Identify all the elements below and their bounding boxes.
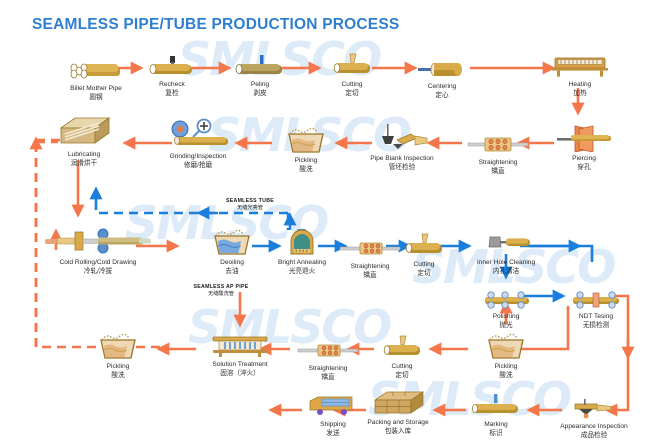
hole-cleaning-icon — [462, 222, 550, 256]
node-pickling-2[interactable]: Pickling 酸洗 — [470, 326, 542, 380]
node-label-en: Peling — [220, 80, 300, 89]
billet-bundle-icon — [56, 48, 136, 82]
node-label-en: Cutting — [312, 80, 392, 89]
pipe-gauge-icon — [132, 44, 212, 78]
cold-rolling-mill-icon — [36, 222, 160, 256]
node-label-cn: 复检 — [132, 89, 212, 98]
pickling-tank-icon — [268, 120, 344, 154]
node-polishing[interactable]: Polishing 抛光 — [470, 276, 542, 330]
node-label-cn: 标识 — [464, 429, 528, 438]
node-label-cn: 修磨/抢磨 — [152, 161, 244, 170]
branch-label-en: SEAMLESS TUBE — [198, 198, 302, 205]
grinding-wheel-icon — [152, 116, 244, 150]
node-pickling-1[interactable]: Pickling 酸洗 — [268, 120, 344, 174]
node-heating[interactable]: Heating 加热 — [540, 44, 620, 98]
piercing-mill-icon — [544, 118, 624, 152]
polishing-rolls-icon — [470, 276, 542, 310]
node-label-en: Straightening — [288, 364, 368, 373]
node-label-en: Cutting — [396, 260, 452, 269]
node-label-cn: 润滑烘干 — [44, 159, 124, 168]
node-label-en: Pickling — [82, 362, 154, 371]
node-label-en: Billet Mother Pipe — [56, 84, 136, 93]
node-label-en: Lubricating — [44, 150, 124, 159]
node-pickling-3[interactable]: Pickling 酸洗 — [82, 326, 154, 380]
node-cutting-2[interactable]: Cutting 定切 — [396, 224, 452, 278]
node-label-cn: 冷轧/冷拔 — [36, 267, 160, 276]
process-flow-diagram: SMLSCO SMLSCO SMLSCO SMLSCO SMLSCO SMLSC… — [0, 0, 650, 441]
node-label-en: Polishing — [470, 312, 542, 321]
packing-boxes-icon — [352, 382, 444, 416]
node-grinding-inspection[interactable]: Grinding/Inspection 修磨/抢磨 — [152, 116, 244, 170]
node-label-cn: 矯直 — [458, 167, 538, 176]
marking-pipe-icon — [464, 384, 528, 418]
peeling-tool-icon — [220, 44, 300, 78]
node-label-en: Marking — [464, 420, 528, 429]
node-inner-hole-cleaning[interactable]: Inner Hole Cleaning 内孔清洁 — [462, 222, 550, 276]
node-label-cn: 无损检测 — [560, 321, 632, 330]
node-label-cn: 矯直 — [288, 373, 368, 382]
straightener-icon — [458, 122, 538, 156]
pickling-tank-icon — [82, 326, 154, 360]
node-label-en: Solution Treatment — [192, 360, 288, 369]
branch-label-en: SEAMLESS AP PIPE — [160, 284, 282, 291]
annealing-furnace-icon — [264, 222, 340, 256]
node-label-cn: 定切 — [396, 269, 452, 278]
node-label-en: Piercing — [544, 154, 624, 163]
truck-icon — [302, 384, 364, 418]
node-straightening-3[interactable]: Straightening 矯直 — [288, 328, 368, 382]
node-label-en: Straightening — [458, 158, 538, 167]
node-label-en: Bright Annealing — [264, 258, 340, 267]
node-label-cn: 酸洗 — [82, 371, 154, 380]
node-label-cn: 穿孔 — [544, 163, 624, 172]
node-label-cn: 定心 — [402, 91, 482, 100]
branch-label-cn: 无缝酸洗管 — [160, 291, 282, 298]
node-label-cn: 加热 — [540, 89, 620, 98]
cutting-saw-icon — [374, 326, 430, 360]
node-label-cn: 管坯检验 — [358, 163, 446, 172]
node-cold-rolling[interactable]: Cold Rolling/Cold Drawing 冷轧/冷拔 — [36, 222, 160, 276]
node-peeling[interactable]: Peling 剥皮 — [220, 44, 300, 98]
node-label-en: Packing and Storage — [352, 418, 444, 427]
node-label-en: Pickling — [268, 156, 344, 165]
node-label-en: Centering — [402, 82, 482, 91]
node-pipe-blank-inspection[interactable]: Pipe Blank Inspection 管坯检验 — [358, 118, 446, 172]
node-label-cn: 包装入库 — [352, 427, 444, 436]
cutting-saw-icon — [312, 44, 392, 78]
node-label-cn: 酸洗 — [268, 165, 344, 174]
node-deoiling[interactable]: Deoiling 去油 — [198, 222, 266, 276]
node-label-en: Grinding/Inspection — [152, 152, 244, 161]
centering-drill-icon — [402, 46, 482, 80]
node-ndt-testing[interactable]: NDT Tesing 无损检测 — [560, 276, 632, 330]
node-label-cn: 剥皮 — [220, 89, 300, 98]
node-billet-mother-pipe[interactable]: Billet Mother Pipe 圆钢 — [56, 48, 136, 102]
node-label-cn: 圆钢 — [56, 93, 136, 102]
node-label-cn: 酸洗 — [470, 371, 542, 380]
node-label-cn: 光亮退火 — [264, 267, 340, 276]
node-solution-treatment[interactable]: Solution Treatment 固溶（淬火） — [192, 324, 288, 378]
node-label-en: Shipping — [302, 420, 364, 429]
node-label-en: Recheck — [132, 80, 212, 89]
node-packing-storage[interactable]: Packing and Storage 包装入库 — [352, 382, 444, 436]
node-label-cn: 定切 — [312, 89, 392, 98]
ndt-rolls-icon — [560, 276, 632, 310]
inspection-probe-icon — [358, 118, 446, 152]
node-centering[interactable]: Centering 定心 — [402, 46, 482, 100]
cutting-saw-icon — [396, 224, 452, 258]
node-label-en: Deoiling — [198, 258, 266, 267]
node-recheck[interactable]: Recheck 复检 — [132, 44, 212, 98]
furnace-icon — [540, 44, 620, 78]
node-label-cn: 固溶（淬火） — [192, 369, 288, 378]
node-label-cn: 定切 — [374, 371, 430, 380]
node-shipping[interactable]: Shipping 发送 — [302, 384, 364, 438]
node-label-cn: 内孔清洁 — [462, 267, 550, 276]
node-label-cn: 去油 — [198, 267, 266, 276]
node-piercing[interactable]: Piercing 穿孔 — [544, 118, 624, 172]
deoiling-tank-icon — [198, 222, 266, 256]
pickling-tank-icon — [470, 326, 542, 360]
node-bright-annealing[interactable]: Bright Annealing 光亮退火 — [264, 222, 340, 276]
node-label-en: Pipe Blank Inspection — [358, 154, 446, 163]
node-label-cn: 成品检验 — [546, 431, 642, 440]
node-appearance-inspection[interactable]: Appearance Inspection 成品检验 — [546, 386, 642, 440]
branch-label-seamless-ap-pipe: SEAMLESS AP PIPE 无缝酸洗管 — [160, 284, 282, 298]
node-label-cn: 发送 — [302, 429, 364, 438]
solution-tank-icon — [192, 324, 288, 358]
node-cutting-1[interactable]: Cutting 定切 — [312, 44, 392, 98]
node-layer: SEAMLESS TUBE 无缝光亮管 SEAMLESS AP PIPE 无缝酸… — [0, 0, 650, 441]
lubricating-box-icon — [44, 114, 124, 148]
node-label-en: Pickling — [470, 362, 542, 371]
node-label-en: Cutting — [374, 362, 430, 371]
appearance-probe-icon — [546, 386, 642, 420]
straightener-icon — [288, 328, 368, 362]
node-label-en: Cold Rolling/Cold Drawing — [36, 258, 160, 267]
node-label-en: Appearance Inspection — [546, 422, 642, 431]
node-cutting-3[interactable]: Cutting 定切 — [374, 326, 430, 380]
node-lubricating[interactable]: Lubricating 润滑烘干 — [44, 114, 124, 168]
node-marking[interactable]: Marking 标识 — [464, 384, 528, 438]
branch-label-seamless-tube: SEAMLESS TUBE 无缝光亮管 — [198, 198, 302, 212]
node-label-en: Heating — [540, 80, 620, 89]
node-label-en: Inner Hole Cleaning — [462, 258, 550, 267]
node-straightening-1[interactable]: Straightening 矯直 — [458, 122, 538, 176]
branch-label-cn: 无缝光亮管 — [198, 205, 302, 212]
node-label-en: NDT Tesing — [560, 312, 632, 321]
